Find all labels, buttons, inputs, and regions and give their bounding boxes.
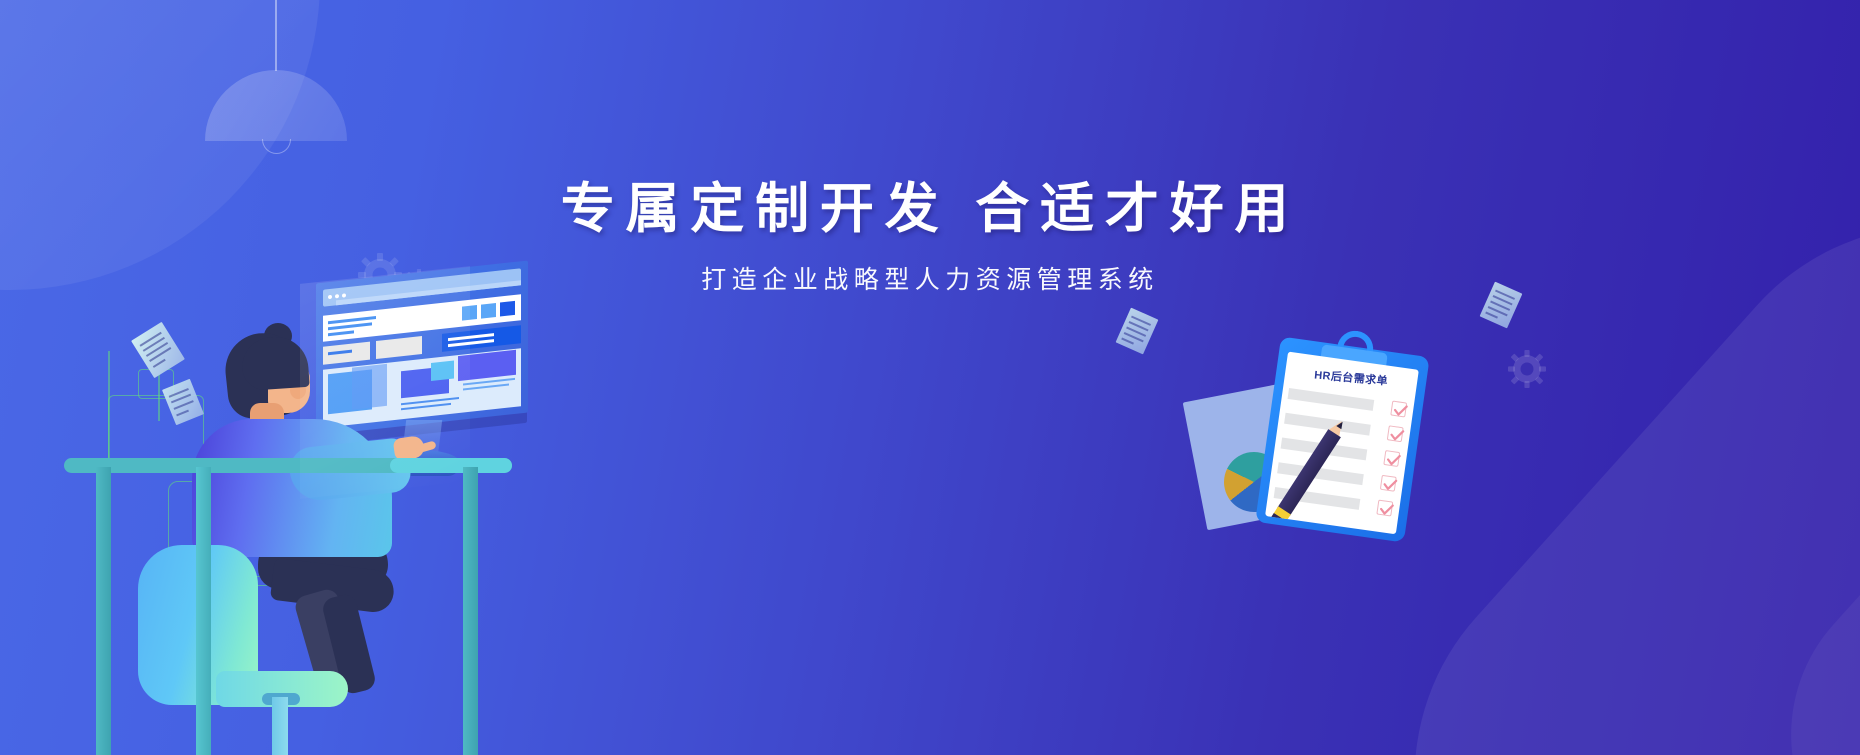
window-control-dots (328, 293, 346, 299)
checkbox-checked[interactable] (1383, 450, 1400, 467)
checklist-row (1288, 388, 1375, 411)
chair-post (272, 697, 288, 755)
checkbox-checked[interactable] (1380, 475, 1397, 492)
desk-leg (463, 467, 478, 755)
desk-top-right (390, 458, 512, 473)
checkbox-checked[interactable] (1390, 401, 1407, 418)
screen-card (458, 350, 516, 381)
lamp-cord (275, 0, 277, 71)
document-sheet (1116, 308, 1159, 355)
screen-tile (481, 303, 496, 319)
clipboard: HR后台需求单 (1255, 329, 1431, 543)
screen-tile (500, 301, 515, 317)
checkbox-checked[interactable] (1387, 425, 1404, 442)
hero-banner: 专属定制开发 合适才好用 打造企业战略型人力资源管理系统 (0, 0, 1860, 755)
lamp-bulb (262, 139, 291, 154)
document-icon (1116, 308, 1159, 355)
gear-icon (1508, 350, 1546, 393)
screen-tile (462, 305, 477, 321)
checkbox-checked[interactable] (1376, 500, 1393, 517)
text-line (328, 322, 372, 330)
banner-headline: 专属定制开发 合适才好用 (0, 178, 1860, 241)
screen-button (442, 325, 521, 352)
office-chair (130, 545, 370, 755)
pendant-lamp-icon (205, 0, 347, 175)
clipboard-title: HR后台需求单 (1295, 365, 1408, 391)
lamp-shade (205, 70, 347, 141)
right-illustration: HR后台需求单 (1180, 330, 1600, 630)
left-illustration (0, 255, 640, 755)
desk-leg (96, 467, 111, 755)
clipboard-paper: HR后台需求单 (1265, 352, 1419, 535)
desk-leg (196, 467, 211, 755)
